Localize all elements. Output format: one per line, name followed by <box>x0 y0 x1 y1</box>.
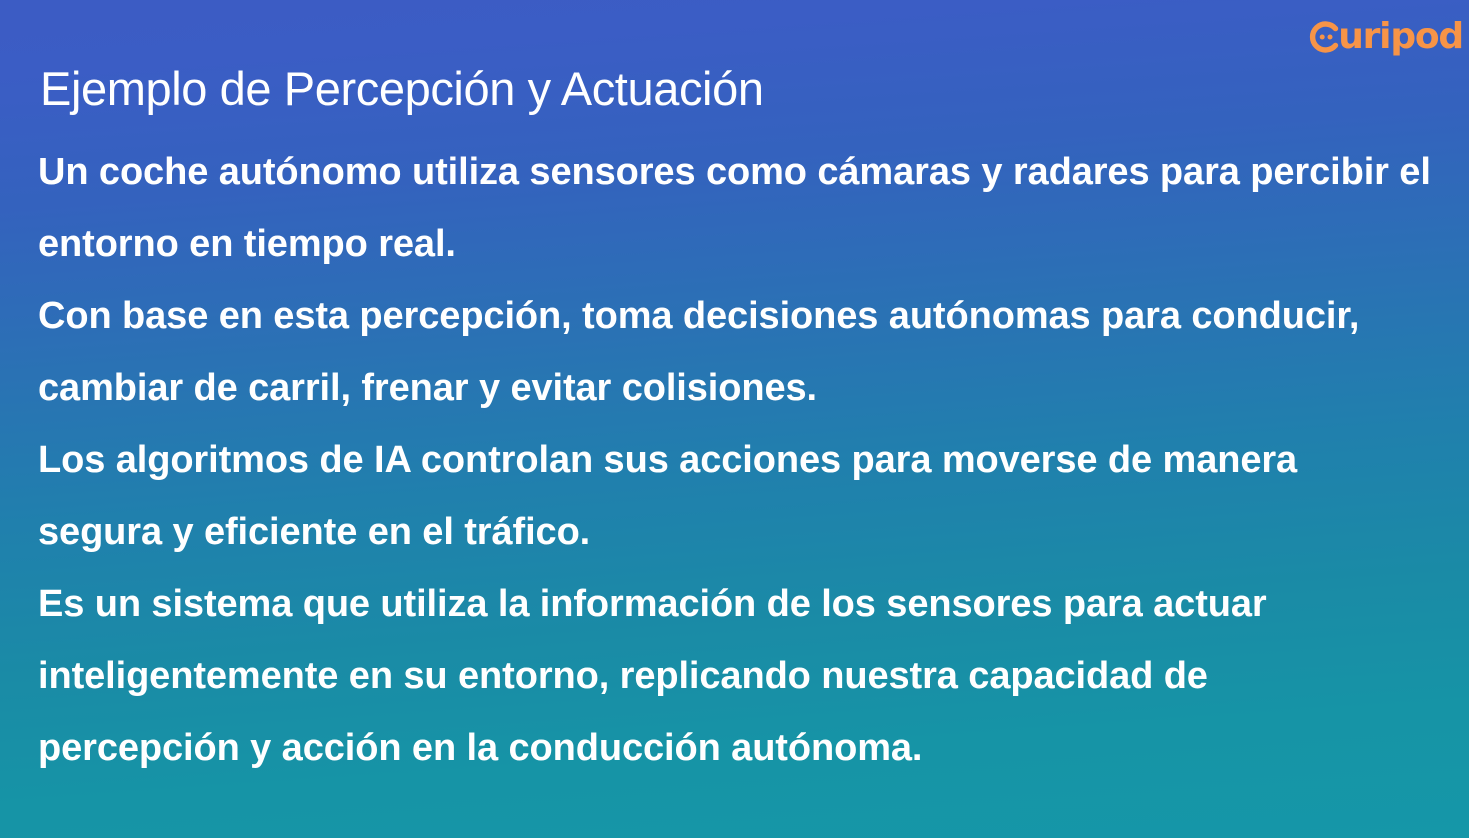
page-title: Ejemplo de Percepción y Actuación <box>40 63 1209 115</box>
curipod-smiley-c-icon <box>1307 20 1341 54</box>
body-paragraph: Con base en esta percepción, toma decisi… <box>38 280 1368 424</box>
body-paragraph: Es un sistema que utiliza la información… <box>38 568 1356 784</box>
curipod-logo[interactable]: uripod <box>1307 14 1463 60</box>
slide-body: Un coche autónomo utiliza sensores como … <box>38 136 1445 784</box>
body-paragraph: Un coche autónomo utiliza sensores como … <box>38 136 1436 280</box>
slide-canvas: uripod Ejemplo de Percepción y Actuación… <box>0 0 1469 838</box>
curipod-wordmark: uripod <box>1338 19 1463 55</box>
body-paragraph: Los algoritmos de IA controlan sus accio… <box>38 424 1338 568</box>
